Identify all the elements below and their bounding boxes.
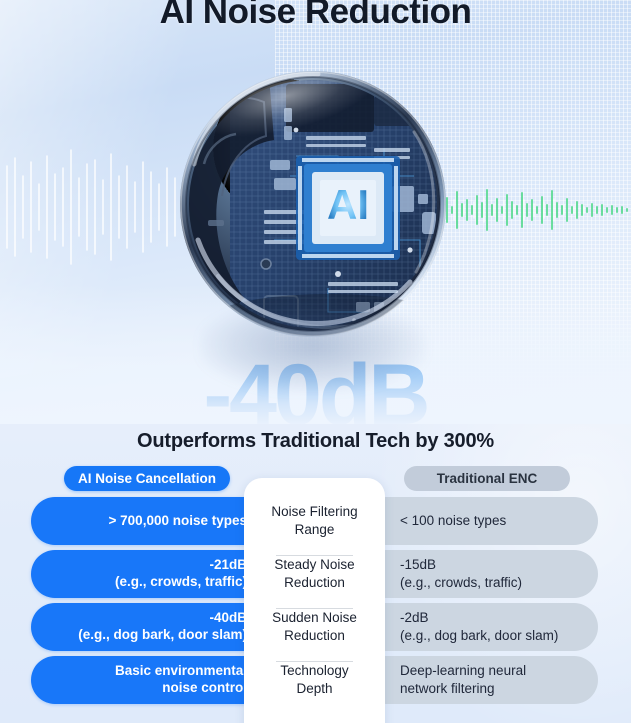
table-row-left-0: > 700,000 noise types [31, 497, 269, 545]
cell-left-3-line1: Basic environmental [115, 663, 247, 678]
feature-cell-3: Technology Depth [244, 656, 385, 704]
feature-3-line1: Technology [280, 663, 348, 678]
hero-banner: -40dB [0, 0, 631, 424]
cell-left-1-line1: -21dB [209, 557, 247, 572]
table-row-right-2: -2dB (e.g., dog bark, door slam) [362, 603, 598, 651]
feature-2-line1: Sudden Noise [272, 610, 357, 625]
cell-right-0-line1: < 100 noise types [400, 513, 506, 528]
ai-chip-sphere: AI [178, 44, 448, 374]
page-title: AI Noise Reduction [0, 0, 631, 32]
feature-0-line2: Range [295, 522, 335, 537]
table-row-right-0: < 100 noise types [362, 497, 598, 545]
header-pill-ai-noise-cancellation: AI Noise Cancellation [64, 466, 230, 491]
comparison-section: Outperforms Traditional Tech by 300% AI … [0, 424, 631, 723]
table-row-left-2: -40dB (e.g., dog bark, door slam) [31, 603, 269, 651]
cell-left-2-line2: (e.g., dog bark, door slam) [78, 627, 247, 642]
cell-right-2-line1: -2dB [400, 610, 429, 625]
table-row-left-1: -21dB (e.g., crowds, traffic) [31, 550, 269, 598]
header-pill-traditional-enc: Traditional ENC [404, 466, 570, 491]
feature-0-line1: Noise Filtering [271, 504, 357, 519]
feature-1-line2: Reduction [284, 575, 345, 590]
cell-left-1-line2: (e.g., crowds, traffic) [115, 574, 247, 589]
feature-2-line2: Reduction [284, 628, 345, 643]
table-row-right-1: -15dB (e.g., crowds, traffic) [362, 550, 598, 598]
cell-left-0-line1: > 700,000 noise types [109, 513, 247, 528]
sphere-shadow [200, 300, 426, 392]
cell-right-3-line1: Deep-learning neural [400, 663, 526, 678]
comparison-heading: Outperforms Traditional Tech by 300% [0, 430, 631, 453]
ai-chip-label: AI [327, 181, 369, 228]
feature-3-line2: Depth [296, 681, 332, 696]
cell-right-1-line2: (e.g., crowds, traffic) [400, 575, 522, 590]
feature-cell-1: Steady Noise Reduction [244, 550, 385, 598]
ai-chip-package: AI [296, 156, 400, 260]
cell-right-2-line2: (e.g., dog bark, door slam) [400, 628, 558, 643]
table-row-right-3: Deep-learning neural network filtering [362, 656, 598, 704]
cell-left-3-line2: noise control [162, 680, 247, 695]
table-row-left-3: Basic environmental noise control [31, 656, 269, 704]
feature-cell-0: Noise Filtering Range [244, 497, 385, 545]
cell-right-1-line1: -15dB [400, 557, 436, 572]
feature-name-card: Noise Filtering Range Steady Noise Reduc… [244, 478, 385, 723]
feature-1-line1: Steady Noise [274, 557, 354, 572]
cell-right-3-line2: network filtering [400, 681, 495, 696]
feature-cell-2: Sudden Noise Reduction [244, 603, 385, 651]
filtered-noise-waveform-icon [418, 178, 631, 242]
cell-left-2-line1: -40dB [209, 610, 247, 625]
